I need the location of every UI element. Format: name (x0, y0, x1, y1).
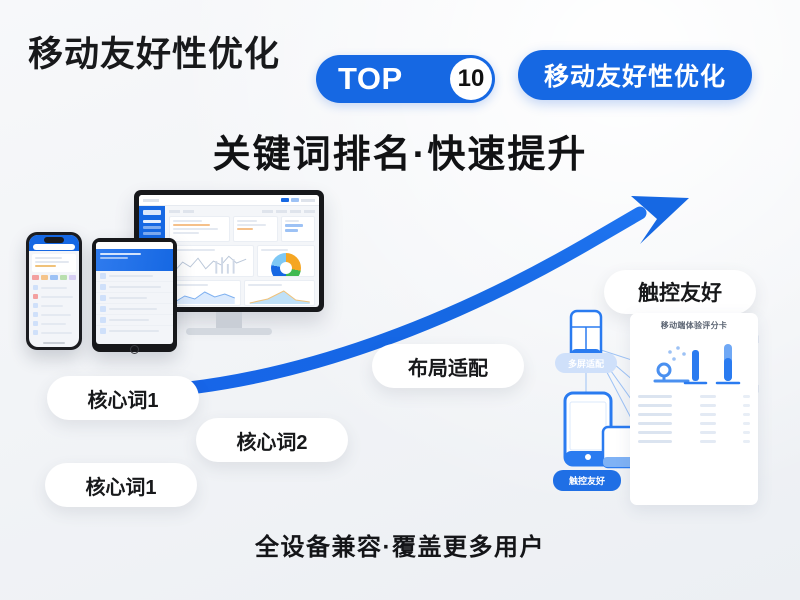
score-row (638, 437, 750, 446)
tablet-mockup (92, 238, 177, 352)
mobile-experience-infographic: 移动端体验评分卡 (545, 305, 775, 520)
tablet-home-button (130, 345, 139, 354)
score-card-bar-chart (640, 336, 748, 388)
phone-mockup (26, 232, 82, 350)
score-row (638, 419, 750, 428)
keyword-pill-2[interactable]: 核心词2 (196, 418, 348, 462)
touch-friendly-mini-pill[interactable]: 触控友好 (553, 470, 621, 491)
score-row (638, 401, 750, 410)
keyword-pill-3[interactable]: 核心词1 (45, 463, 197, 507)
top-rank-badge: TOP 10 (316, 55, 495, 103)
multi-screen-pill[interactable]: 多屏适配 (555, 353, 617, 373)
top-badge-number: 10 (450, 58, 492, 100)
poster-canvas: 移动友好性优化 TOP 10 移动友好性优化 关键词排名·快速提升 (0, 0, 800, 600)
score-row (638, 428, 750, 437)
device-mockup-group (26, 190, 336, 370)
phone-home-indicator (43, 342, 65, 344)
page-headline: 移动友好性优化 (28, 26, 280, 77)
score-row (638, 410, 750, 419)
phone-notch (44, 237, 64, 243)
score-card-title: 移动端体验评分卡 (638, 320, 750, 331)
keyword-pill-1[interactable]: 核心词1 (47, 376, 199, 420)
page-subtitle: 关键词排名·快速提升 (0, 123, 800, 178)
footer-tagline: 全设备兼容·覆盖更多用户 (0, 527, 800, 562)
top-badge-word: TOP (338, 61, 403, 97)
phone-search-bar (33, 244, 75, 250)
score-card: 移动端体验评分卡 (630, 313, 758, 505)
donut-chart-icon (271, 253, 301, 277)
score-row (638, 392, 750, 401)
highlight-pill: 移动友好性优化 (518, 50, 752, 100)
layout-adaptation-pill[interactable]: 布局适配 (372, 344, 524, 388)
